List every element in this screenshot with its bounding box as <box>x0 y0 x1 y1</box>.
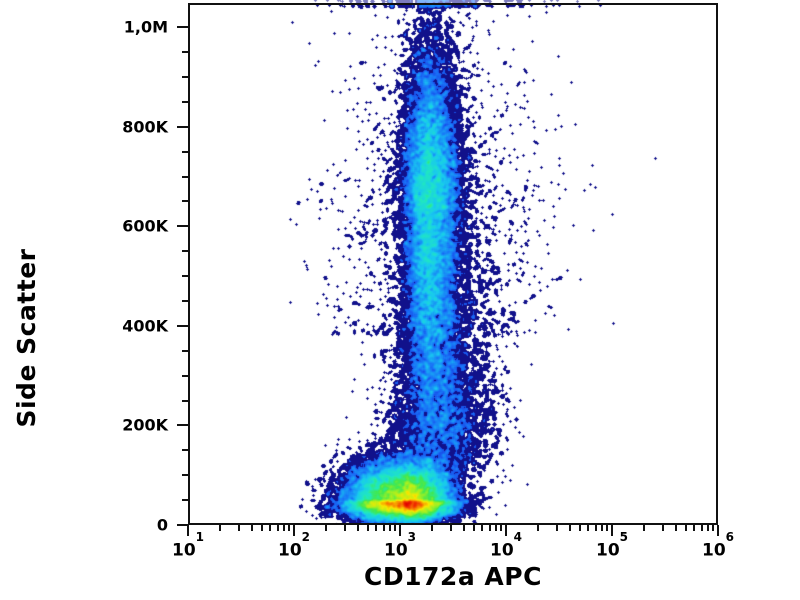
x-axis-minor-tick <box>277 525 279 531</box>
x-axis-title: CD172a APC <box>188 562 718 591</box>
x-axis-minor-tick <box>473 525 475 531</box>
x-axis-minor-tick <box>707 525 709 531</box>
y-axis-tick-label: 600K <box>122 217 168 236</box>
x-axis-minor-tick <box>288 525 290 531</box>
x-axis-tick-label: 104 <box>490 538 522 561</box>
y-axis-major-tick <box>177 325 188 327</box>
x-axis-tick-label: 102 <box>278 538 310 561</box>
x-axis-tick-label: 101 <box>172 538 204 561</box>
x-axis-minor-tick <box>606 525 608 531</box>
x-axis-minor-tick <box>500 525 502 531</box>
x-axis-minor-tick <box>389 525 391 531</box>
x-axis-minor-tick <box>556 525 558 531</box>
x-axis-minor-tick <box>662 525 664 531</box>
x-axis-minor-tick <box>375 525 377 531</box>
x-axis-major-tick <box>505 525 507 536</box>
x-axis-major-tick <box>717 525 719 536</box>
x-axis-minor-tick <box>394 525 396 531</box>
y-axis-title: Side Scatter <box>0 0 120 600</box>
x-axis-minor-tick <box>269 525 271 531</box>
x-axis-minor-tick <box>325 525 327 531</box>
x-axis-minor-tick <box>344 525 346 531</box>
x-axis-minor-tick <box>357 525 359 531</box>
x-axis-minor-tick <box>219 525 221 531</box>
x-axis-minor-tick <box>587 525 589 531</box>
x-axis-major-tick <box>399 525 401 536</box>
x-axis-minor-tick <box>489 525 491 531</box>
x-axis-minor-tick <box>712 525 714 531</box>
x-axis-minor-tick <box>261 525 263 531</box>
top-clipped-strip <box>188 0 718 3</box>
y-axis-major-tick <box>177 26 188 28</box>
x-axis-minor-tick <box>643 525 645 531</box>
x-axis-major-tick <box>187 525 189 536</box>
scatter-dot-canvas <box>190 5 718 525</box>
y-axis-tick-label: 200K <box>122 416 168 435</box>
y-axis-major-tick <box>177 126 188 128</box>
y-axis-title-text: Side Scatter <box>12 249 41 428</box>
flow-cytometry-figure: Side Scatter 0200K400K600K800K1,0M 10110… <box>0 0 800 600</box>
x-axis-minor-tick <box>431 525 433 531</box>
x-axis-minor-tick <box>579 525 581 531</box>
scatter-canvas-holder <box>190 5 716 523</box>
x-axis-major-tick <box>293 525 295 536</box>
x-axis-minor-tick <box>685 525 687 531</box>
x-axis-minor-tick <box>569 525 571 531</box>
x-axis-minor-tick <box>675 525 677 531</box>
x-axis-tick-label: 106 <box>702 538 734 561</box>
x-axis-minor-tick <box>481 525 483 531</box>
x-axis-tick-label: 103 <box>384 538 416 561</box>
x-axis-minor-tick <box>251 525 253 531</box>
x-axis-minor-tick <box>238 525 240 531</box>
y-axis-tick-label: 1,0M <box>124 18 168 37</box>
y-axis-major-tick <box>177 225 188 227</box>
x-axis-minor-tick <box>601 525 603 531</box>
plot-area <box>188 3 718 525</box>
y-axis-tick-label: 800K <box>122 117 168 136</box>
x-axis-minor-tick <box>367 525 369 531</box>
y-axis-tick-label: 0 <box>157 516 168 535</box>
x-axis-minor-tick <box>495 525 497 531</box>
top-strip-canvas <box>188 0 718 3</box>
x-axis-minor-tick <box>537 525 539 531</box>
x-axis-minor-tick <box>701 525 703 531</box>
x-axis-minor-tick <box>463 525 465 531</box>
x-axis-minor-tick <box>383 525 385 531</box>
x-axis-minor-tick <box>595 525 597 531</box>
x-axis-minor-tick <box>283 525 285 531</box>
x-axis-minor-tick <box>693 525 695 531</box>
x-axis-minor-tick <box>450 525 452 531</box>
y-axis-major-tick <box>177 424 188 426</box>
x-axis-major-tick <box>611 525 613 536</box>
y-axis-tick-label: 400K <box>122 316 168 335</box>
x-axis-tick-label: 105 <box>596 538 628 561</box>
